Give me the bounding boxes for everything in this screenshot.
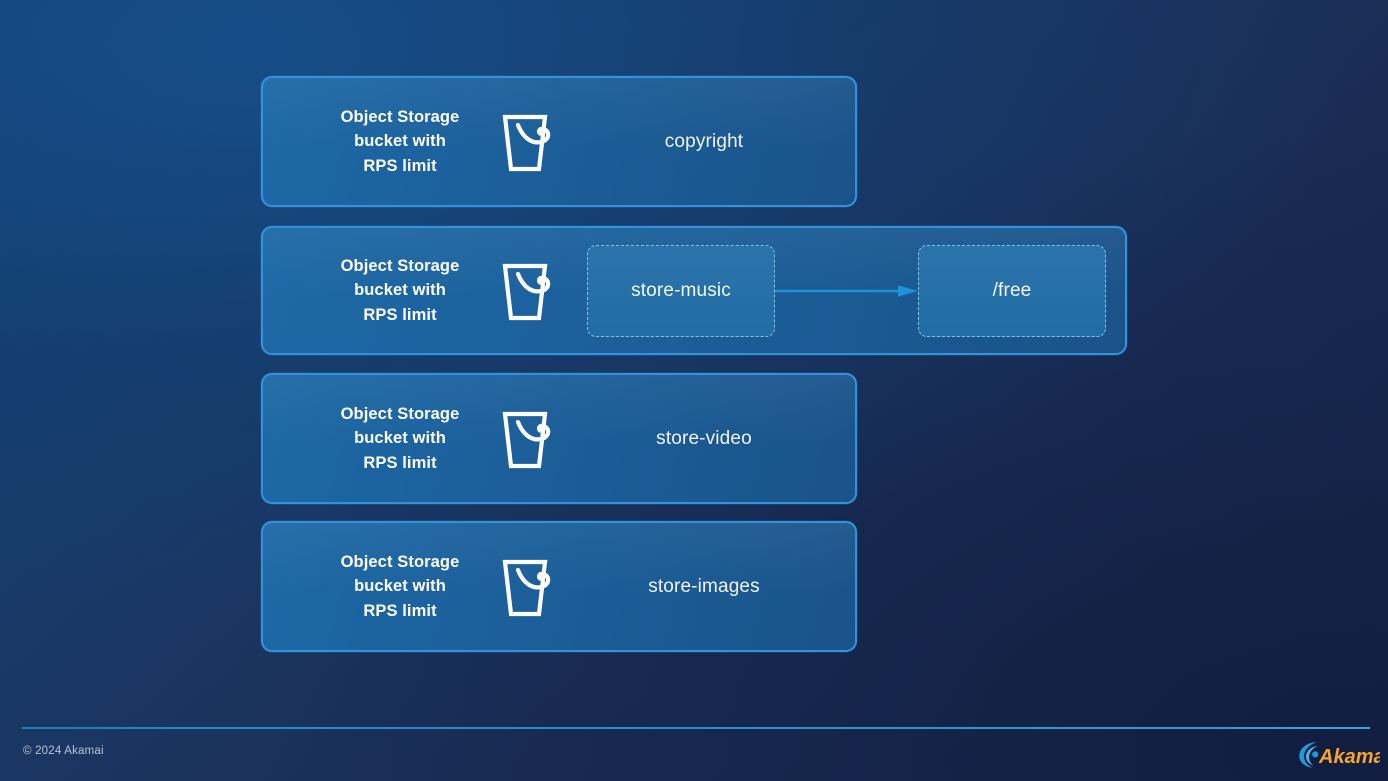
bucket-row: Object Storage bucket with RPS limit cop… — [261, 76, 857, 207]
bucket-row-value: copyright — [561, 131, 855, 153]
bucket-row: Object Storage bucket with RPS limit sto… — [261, 373, 857, 504]
bucket-row-left-cluster: Object Storage bucket with RPS limit — [263, 105, 561, 179]
chain-target-label: /free — [993, 280, 1032, 302]
bucket-row: Object Storage bucket with RPS limit sto… — [261, 226, 1127, 355]
bucket-row-value: store-video — [561, 428, 855, 450]
akamai-logo: Akamai — [1296, 739, 1380, 770]
copyright-text: © 2024 Akamai — [23, 745, 104, 757]
bucket-row-left-cluster: Object Storage bucket with RPS limit — [263, 254, 561, 328]
bucket-icon — [499, 406, 561, 472]
bucket-icon — [499, 258, 561, 324]
bucket-row-value: store-images — [561, 576, 855, 598]
chain-source-box[interactable]: store-music — [587, 245, 775, 337]
footer-divider — [22, 727, 1370, 729]
bucket-icon — [499, 109, 561, 175]
bucket-row-label: Object Storage bucket with RPS limit — [325, 550, 475, 624]
bucket-row-chain: store-music /free — [561, 245, 1125, 337]
slide-canvas: Object Storage bucket with RPS limit cop… — [0, 0, 1388, 781]
svg-text:Akamai: Akamai — [1318, 746, 1380, 768]
bucket-row-label: Object Storage bucket with RPS limit — [325, 402, 475, 476]
chain-source-label: store-music — [631, 280, 731, 302]
bucket-icon — [499, 554, 561, 620]
bucket-row-left-cluster: Object Storage bucket with RPS limit — [263, 550, 561, 624]
bucket-row-left-cluster: Object Storage bucket with RPS limit — [263, 402, 561, 476]
chain-target-box[interactable]: /free — [918, 245, 1106, 337]
bucket-row-label: Object Storage bucket with RPS limit — [325, 105, 475, 179]
arrow-right-icon — [775, 284, 918, 298]
bucket-row-label: Object Storage bucket with RPS limit — [325, 254, 475, 328]
bucket-row: Object Storage bucket with RPS limit sto… — [261, 521, 857, 652]
